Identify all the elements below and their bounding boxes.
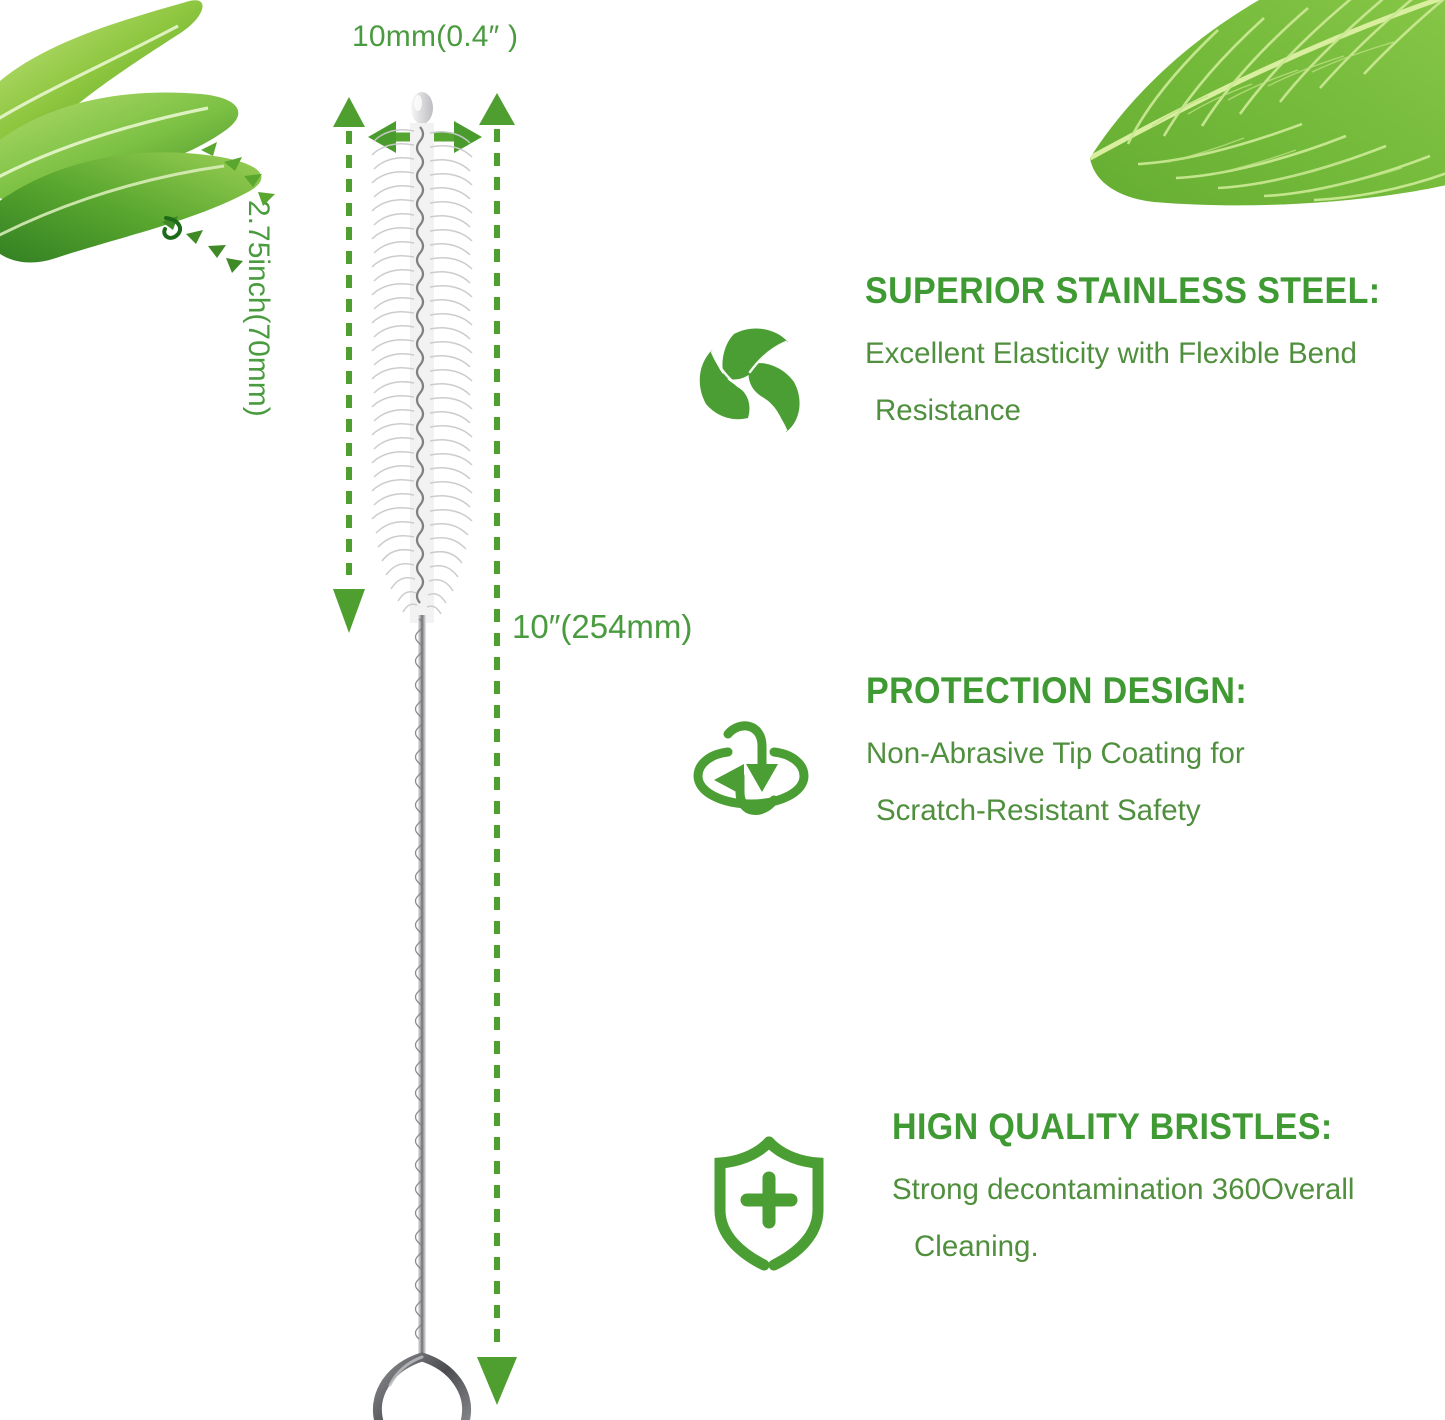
feature-body-line1: Excellent Elasticity with Flexible Bend: [865, 337, 1357, 370]
wire-loop-handle: [377, 1357, 466, 1420]
feature-text-block: PROTECTION DESIGN: Non-Abrasive Tip Coat…: [866, 672, 1280, 840]
feature-body-line2: Scratch-Resistant Safety: [866, 782, 1280, 840]
total-length-dimension-line: [477, 93, 517, 1405]
shield-plus-icon: [706, 1132, 832, 1280]
infographic-canvas: 10mm(0.4″ ) 2.75inch(70mm) 10″(254mm): [0, 0, 1445, 1420]
feature-heading: HIGN QUALITY BRISTLES:: [892, 1108, 1333, 1147]
feature-body-line2: Resistance: [865, 382, 1425, 440]
feature-body-line1: Strong decontamination 360Overall: [892, 1173, 1354, 1206]
twisted-wire-shaft: [416, 615, 427, 1357]
width-dimension-label: 10mm(0.4″ ): [352, 20, 562, 54]
feature-heading: PROTECTION DESIGN:: [866, 672, 1247, 711]
feature-body: Strong decontamination 360Overall Cleani…: [892, 1161, 1371, 1276]
rotation-360-arrows-icon: [688, 714, 814, 840]
feature-body-line2: Cleaning.: [892, 1218, 1371, 1276]
brush-head-length-label: 2.75inch(70mm): [241, 200, 275, 417]
feature-text-block: HIGN QUALITY BRISTLES: Strong decontamin…: [892, 1108, 1371, 1276]
feature-superior-stainless-steel: SUPERIOR STAINLESS STEEL: Excellent Elas…: [690, 272, 1425, 440]
feature-body: Non-Abrasive Tip Coating for Scratch-Res…: [866, 725, 1280, 840]
brush-head-dimension-line: [333, 97, 365, 633]
photo-leaf-decoration: [1068, 0, 1445, 226]
recycle-leaves-icon: [690, 320, 810, 440]
product-illustration: [330, 75, 545, 1420]
nylon-tip-cap: [411, 92, 433, 124]
feature-text-block: SUPERIOR STAINLESS STEEL: Excellent Elas…: [865, 272, 1425, 440]
feature-body-line1: Non-Abrasive Tip Coating for: [866, 737, 1245, 770]
feature-high-quality-bristles: HIGN QUALITY BRISTLES: Strong decontamin…: [706, 1108, 1371, 1280]
feature-protection-design: PROTECTION DESIGN: Non-Abrasive Tip Coat…: [688, 672, 1280, 840]
bristle-brush-head: [372, 123, 472, 623]
feature-heading: SUPERIOR STAINLESS STEEL:: [865, 272, 1380, 311]
feature-body: Excellent Elasticity with Flexible Bend …: [865, 325, 1425, 440]
